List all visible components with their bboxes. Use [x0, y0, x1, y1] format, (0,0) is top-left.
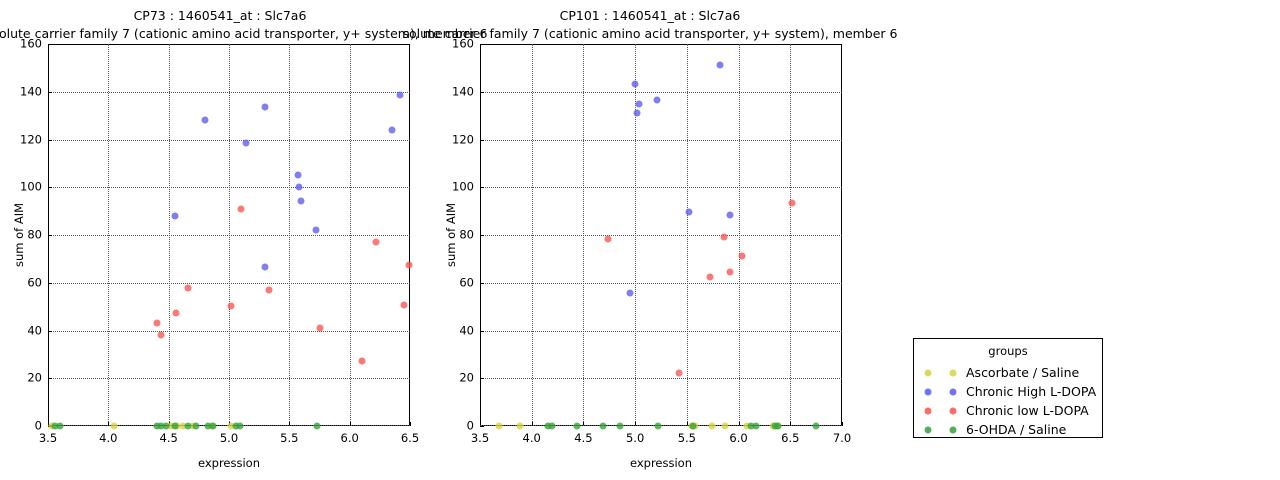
data-point — [549, 423, 556, 430]
tick-label-x: 5.0 — [220, 433, 238, 445]
tick-y — [480, 92, 484, 93]
data-point — [111, 423, 118, 430]
data-point — [716, 61, 723, 68]
legend-title: groups — [914, 346, 1102, 358]
data-point — [236, 423, 243, 430]
tick-label-y: 120 — [440, 134, 474, 146]
panel-cp73-title: CP73 : 1460541_at : Slc7a6 — [0, 10, 440, 23]
data-point — [616, 423, 623, 430]
tick-x — [842, 422, 843, 426]
tick-label-y: 60 — [440, 277, 474, 289]
legend-item[interactable]: Chronic High L-DOPA — [914, 382, 1102, 402]
data-point — [242, 139, 249, 146]
scatter-plot-cp101 — [480, 44, 842, 426]
data-point — [727, 212, 734, 219]
tick-label-x: 6.5 — [781, 433, 799, 445]
gridline-horizontal — [48, 187, 410, 188]
data-point — [789, 199, 796, 206]
data-point — [358, 357, 365, 364]
tick-y — [480, 187, 484, 188]
tick-label-y: 20 — [8, 373, 42, 385]
data-point — [632, 80, 639, 87]
gridline-horizontal — [480, 378, 842, 379]
data-point — [605, 235, 612, 242]
tick-y — [48, 283, 52, 284]
tick-label-y: 120 — [8, 134, 42, 146]
tick-label-x: 4.5 — [574, 433, 592, 445]
data-point — [685, 208, 692, 215]
legend-marker-icon — [950, 370, 957, 377]
tick-label-y: 40 — [8, 325, 42, 337]
data-point — [153, 320, 160, 327]
data-point — [690, 423, 697, 430]
data-point — [163, 423, 170, 430]
axis-label-x-cp101: expression — [630, 458, 692, 470]
legend-item[interactable]: Chronic low L-DOPA — [914, 401, 1102, 421]
data-point — [57, 423, 64, 430]
figure-canvas: CP73 : 1460541_at : Slc7a6 solute carrie… — [0, 0, 1280, 480]
legend-item[interactable]: Ascorbate / Saline — [914, 363, 1102, 383]
data-point — [210, 423, 217, 430]
data-point — [228, 303, 235, 310]
gridline-horizontal — [48, 331, 410, 332]
tick-label-x: 3.5 — [39, 433, 57, 445]
tick-y — [480, 140, 484, 141]
legend-marker-icon — [925, 389, 932, 396]
data-point — [201, 117, 208, 124]
tick-label-x: 5.5 — [280, 433, 298, 445]
tick-label-x: 4.5 — [160, 433, 178, 445]
data-point — [634, 109, 641, 116]
data-point — [722, 423, 729, 430]
legend-marker-icon — [925, 408, 932, 415]
data-point — [316, 325, 323, 332]
data-point — [184, 285, 191, 292]
data-point — [238, 206, 245, 213]
data-point — [495, 423, 502, 430]
gridline-horizontal — [48, 92, 410, 93]
legend-item-label: Chronic High L-DOPA — [966, 386, 1096, 399]
legend-marker-icon — [925, 370, 932, 377]
data-point — [706, 274, 713, 281]
tick-y — [48, 235, 52, 236]
tick-x — [410, 422, 411, 426]
tick-label-y: 140 — [440, 86, 474, 98]
data-point — [298, 198, 305, 205]
data-point — [158, 332, 165, 339]
tick-y — [480, 235, 484, 236]
data-point — [675, 369, 682, 376]
legend-marker-icon — [925, 427, 932, 434]
tick-label-y: 60 — [8, 277, 42, 289]
tick-label-x: 6.0 — [341, 433, 359, 445]
tick-y — [480, 331, 484, 332]
legend-marker-icon — [950, 427, 957, 434]
tick-label-y: 0 — [440, 420, 474, 432]
data-point — [400, 301, 407, 308]
data-point — [294, 171, 301, 178]
tick-y — [48, 44, 52, 45]
tick-label-x: 5.5 — [678, 433, 696, 445]
data-point — [172, 310, 179, 317]
gridline-horizontal — [480, 283, 842, 284]
data-point — [738, 253, 745, 260]
data-point — [265, 286, 272, 293]
gridline-horizontal — [480, 187, 842, 188]
tick-label-x: 7.0 — [833, 433, 851, 445]
data-point — [171, 212, 178, 219]
tick-y — [48, 140, 52, 141]
gridline-horizontal — [480, 140, 842, 141]
gridline-horizontal — [480, 235, 842, 236]
data-point — [753, 423, 760, 430]
gridline-horizontal — [48, 140, 410, 141]
axis-label-x-cp73: expression — [198, 458, 260, 470]
data-point — [314, 423, 321, 430]
tick-label-x: 4.0 — [99, 433, 117, 445]
data-point — [184, 423, 191, 430]
tick-y — [48, 331, 52, 332]
tick-label-x: 3.5 — [471, 433, 489, 445]
data-point — [388, 127, 395, 134]
data-point — [636, 100, 643, 107]
gridline-horizontal — [48, 235, 410, 236]
data-point — [774, 423, 781, 430]
tick-y — [48, 187, 52, 188]
data-point — [373, 238, 380, 245]
legend-item-label: 6-OHDA / Saline — [966, 424, 1066, 437]
tick-y — [48, 92, 52, 93]
data-point — [727, 269, 734, 276]
tick-label-y: 100 — [8, 182, 42, 194]
panel-cp101-subtitle: solute carrier family 7 (cationic amino … — [250, 28, 1050, 41]
scatter-plot-cp73 — [48, 44, 410, 426]
tick-label-y: 40 — [440, 325, 474, 337]
data-point — [574, 423, 581, 430]
legend: groups Ascorbate / SalineChronic High L-… — [913, 338, 1103, 438]
data-point — [813, 423, 820, 430]
data-point — [312, 226, 319, 233]
data-point — [654, 423, 661, 430]
legend-marker-icon — [950, 408, 957, 415]
legend-item-label: Chronic low L-DOPA — [966, 405, 1089, 418]
tick-label-x: 6.0 — [729, 433, 747, 445]
gridline-horizontal — [48, 378, 410, 379]
tick-label-x: 5.0 — [626, 433, 644, 445]
data-point — [626, 289, 633, 296]
tick-label-x: 4.0 — [523, 433, 541, 445]
data-point — [405, 262, 412, 269]
data-point — [171, 423, 178, 430]
tick-label-y: 100 — [440, 182, 474, 194]
tick-label-x: 6.5 — [401, 433, 419, 445]
tick-y — [480, 283, 484, 284]
tick-label-y: 80 — [8, 229, 42, 241]
tick-y — [480, 44, 484, 45]
tick-label-y: 20 — [440, 373, 474, 385]
tick-y — [480, 378, 484, 379]
legend-item-label: Ascorbate / Saline — [966, 367, 1079, 380]
legend-marker-icon — [950, 389, 957, 396]
tick-label-y: 80 — [440, 229, 474, 241]
data-point — [397, 92, 404, 99]
data-point — [708, 423, 715, 430]
data-point — [517, 423, 524, 430]
gridline-horizontal — [480, 331, 842, 332]
data-point — [653, 96, 660, 103]
data-point — [295, 183, 302, 190]
data-point — [193, 423, 200, 430]
gridline-horizontal — [480, 92, 842, 93]
tick-label-y: 0 — [8, 420, 42, 432]
tick-label-y: 140 — [8, 86, 42, 98]
data-point — [721, 234, 728, 241]
tick-y — [480, 426, 484, 427]
tick-y — [48, 378, 52, 379]
tick-label-y: 160 — [440, 38, 474, 50]
gridline-horizontal — [48, 283, 410, 284]
data-point — [262, 263, 269, 270]
tick-label-y: 160 — [8, 38, 42, 50]
panel-cp101-title: CP101 : 1460541_at : Slc7a6 — [440, 10, 860, 23]
data-point — [262, 104, 269, 111]
legend-item[interactable]: 6-OHDA / Saline — [914, 420, 1102, 440]
data-point — [600, 423, 607, 430]
